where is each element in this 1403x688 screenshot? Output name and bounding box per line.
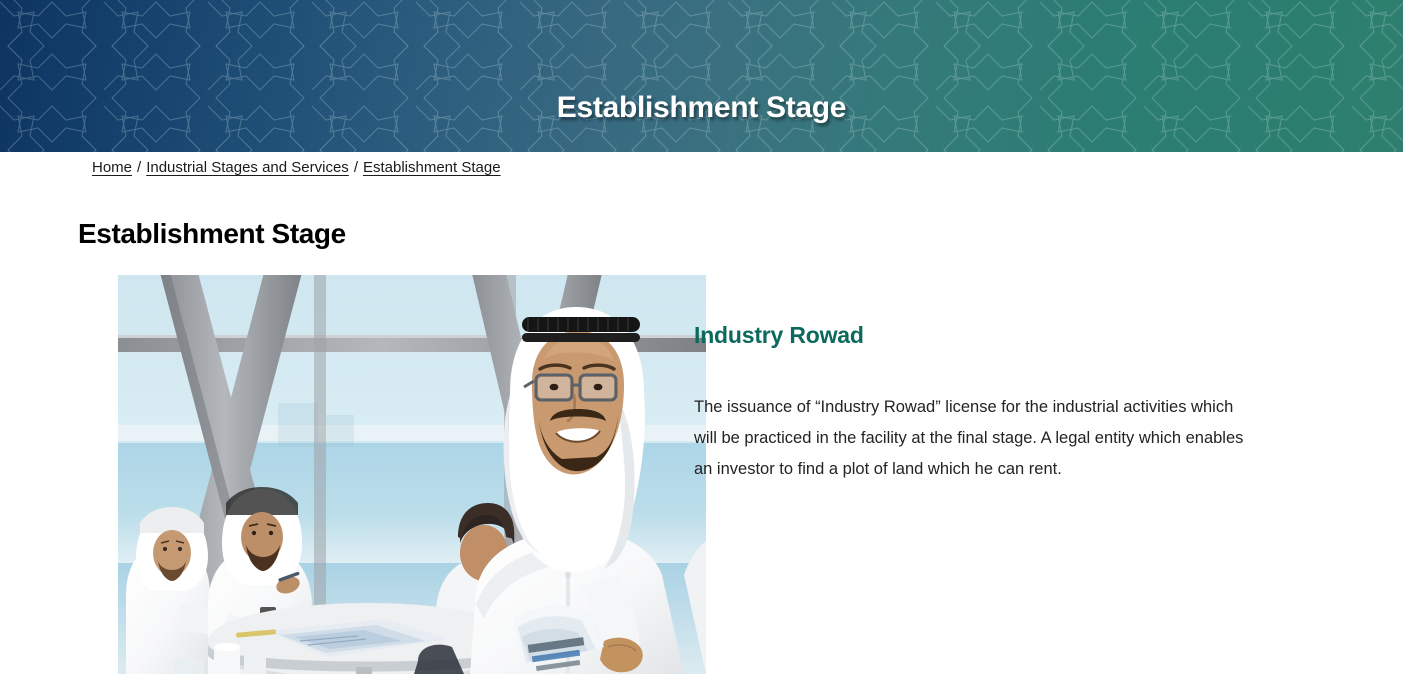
hero-title: Establishment Stage [0, 91, 1403, 125]
section-description: The issuance of “Industry Rowad” license… [694, 350, 1254, 485]
islamic-star-lattice-pattern [0, 0, 1403, 152]
breadcrumb-item-home[interactable]: Home [92, 159, 132, 176]
breadcrumb: Home/Industrial Stages and Services/Esta… [92, 158, 501, 178]
breadcrumb-separator: / [132, 158, 146, 178]
page-title: Establishment Stage [78, 217, 346, 251]
establishment-stage-photo [118, 275, 706, 674]
breadcrumb-item-establishment-stage[interactable]: Establishment Stage [363, 159, 501, 176]
section-heading-industry-rowad: Industry Rowad [694, 259, 1294, 350]
page-hero-banner: Establishment Stage [0, 0, 1403, 152]
text-column: Industry Rowad The issuance of “Industry… [694, 259, 1294, 485]
main-content: Industry Rowad The issuance of “Industry… [78, 259, 1325, 658]
breadcrumb-separator: / [349, 158, 363, 178]
breadcrumb-item-industrial-stages-and-services[interactable]: Industrial Stages and Services [146, 159, 349, 176]
